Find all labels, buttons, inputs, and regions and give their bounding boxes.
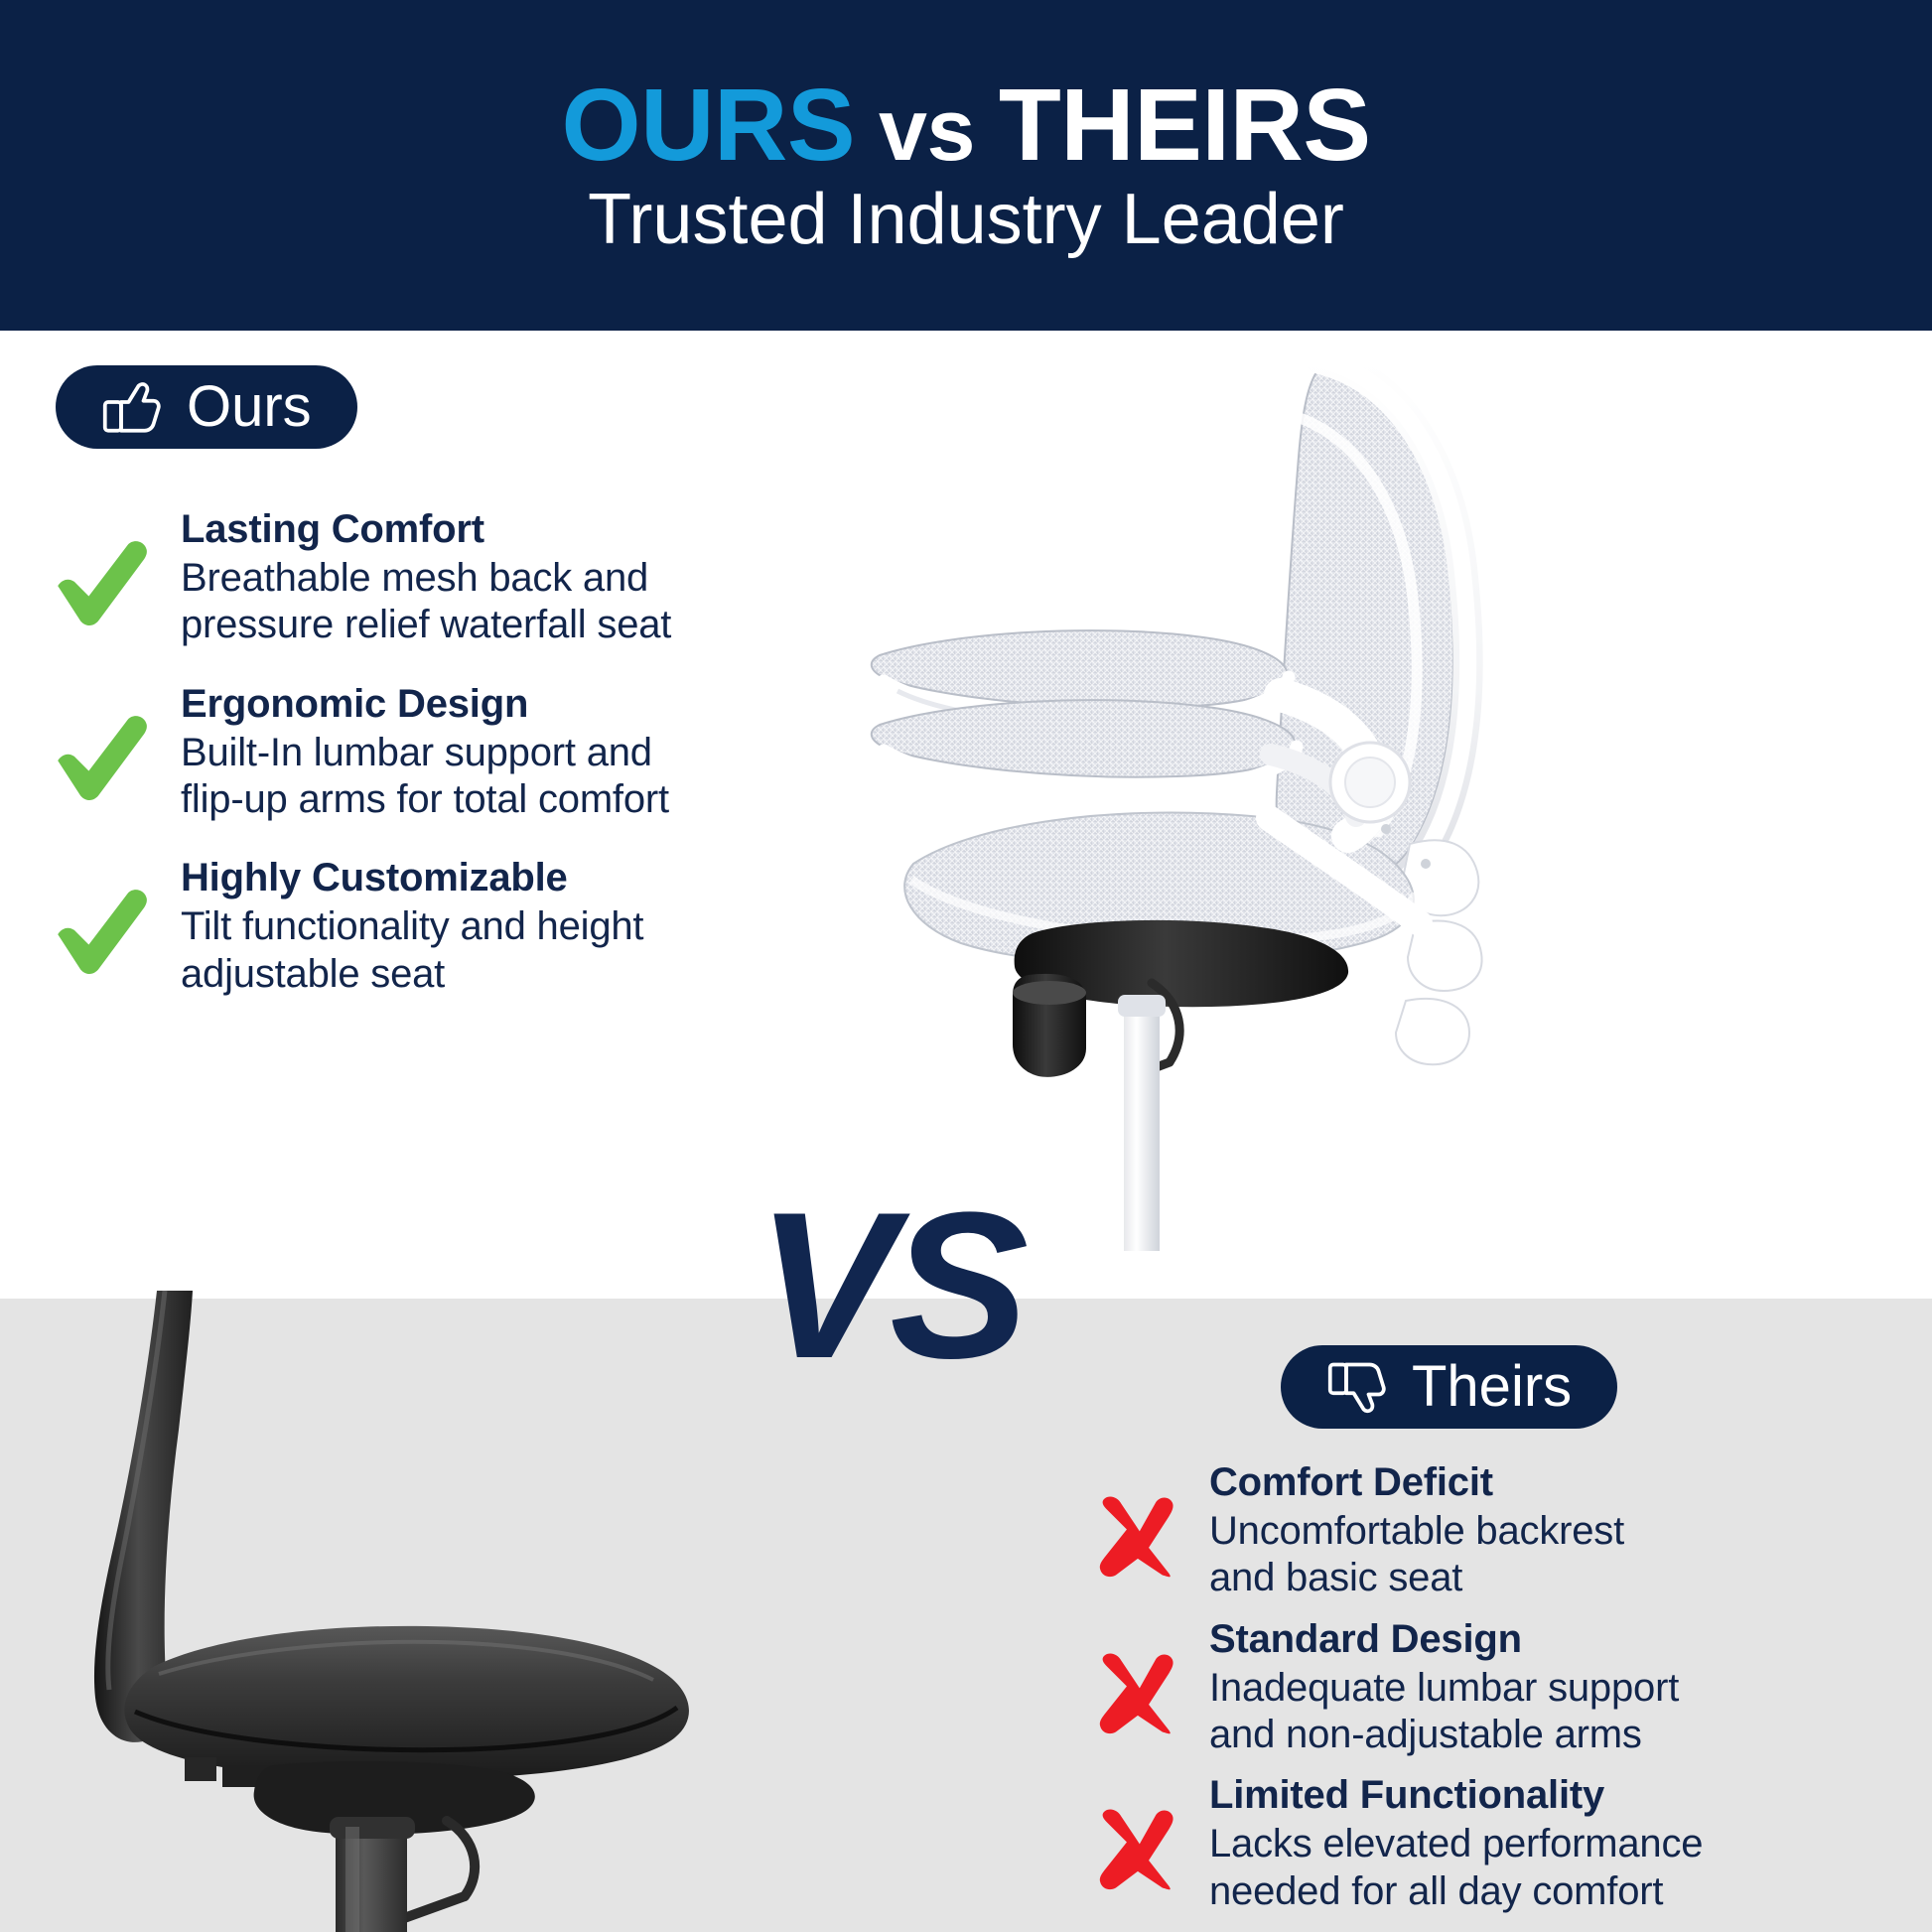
ours-product-image — [854, 328, 1588, 1251]
list-item: Limited Functionality Lacks elevated per… — [1092, 1772, 1916, 1915]
feature-title: Standard Design — [1209, 1616, 1916, 1663]
feature-description: Breathable mesh back and pressure relief… — [181, 555, 697, 648]
feature-description: Tilt functionality and height adjustable… — [181, 903, 697, 997]
feature-description: Uncomfortable backrest and basic seat — [1209, 1508, 1916, 1601]
list-item: Lasting Comfort Breathable mesh back and… — [52, 506, 697, 649]
ours-badge: Ours — [56, 365, 357, 449]
green-check-icon — [52, 532, 155, 635]
feature-title: Ergonomic Design — [181, 681, 697, 728]
feature-title: Highly Customizable — [181, 855, 697, 901]
list-item: Highly Customizable Tilt functionality a… — [52, 855, 697, 998]
comparison-infographic: OURS vs THEIRS Trusted Industry Leader — [0, 0, 1932, 1932]
green-check-icon — [52, 707, 155, 810]
feature-description: Lacks elevated performance needed for al… — [1209, 1821, 1916, 1914]
theirs-feature-list: Comfort Deficit Uncomfortable backrest a… — [1092, 1459, 1916, 1929]
red-cross-icon — [1092, 1489, 1183, 1581]
page-title: OURS vs THEIRS — [561, 72, 1370, 177]
title-ours: OURS — [561, 68, 855, 182]
red-cross-icon — [1092, 1802, 1183, 1893]
page-subtitle: Trusted Industry Leader — [588, 183, 1344, 258]
theirs-product-image — [0, 1291, 774, 1932]
header-banner: OURS vs THEIRS Trusted Industry Leader — [0, 0, 1932, 331]
list-item: Ergonomic Design Built-In lumbar support… — [52, 681, 697, 824]
feature-title: Lasting Comfort — [181, 506, 697, 553]
feature-title: Comfort Deficit — [1209, 1459, 1916, 1506]
feature-title: Limited Functionality — [1209, 1772, 1916, 1819]
list-item: Comfort Deficit Uncomfortable backrest a… — [1092, 1459, 1916, 1602]
ours-badge-label: Ours — [187, 378, 312, 436]
vs-divider-label: VS — [757, 1181, 1023, 1390]
ours-feature-list: Lasting Comfort Breathable mesh back and… — [52, 506, 697, 1030]
feature-description: Inadequate lumbar support and non-adjust… — [1209, 1665, 1916, 1758]
thumbs-up-icon — [101, 377, 161, 437]
thumbs-down-icon — [1326, 1357, 1386, 1417]
title-vs: vs — [855, 80, 999, 179]
green-check-icon — [52, 881, 155, 984]
theirs-badge-label: Theirs — [1412, 1358, 1572, 1416]
feature-description: Built-In lumbar support and flip-up arms… — [181, 730, 697, 823]
list-item: Standard Design Inadequate lumbar suppor… — [1092, 1616, 1916, 1759]
title-theirs: THEIRS — [999, 68, 1371, 182]
theirs-badge: Theirs — [1281, 1345, 1617, 1429]
red-cross-icon — [1092, 1646, 1183, 1737]
